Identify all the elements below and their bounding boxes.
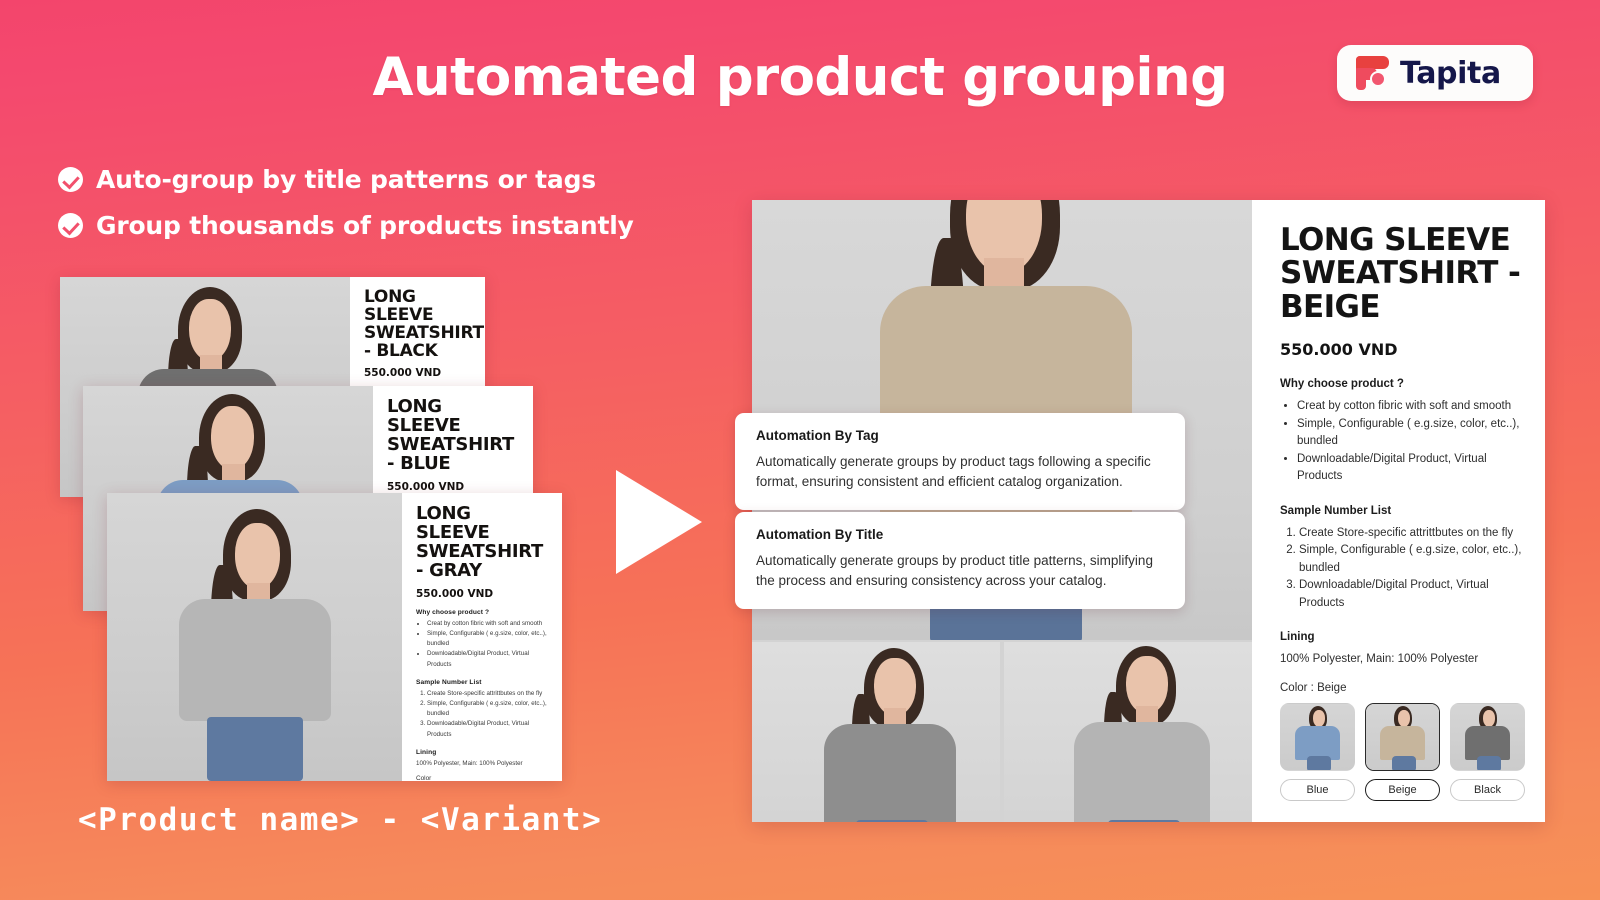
feature-bullet: Auto-group by title patterns or tags (58, 165, 634, 194)
product-gallery (752, 200, 1252, 822)
why-choose-heading: Why choose product ? (416, 609, 548, 616)
product-price: 550.000 VND (387, 481, 519, 493)
product-photo-gray (107, 493, 402, 781)
tapita-logo: Tapita (1337, 45, 1533, 101)
color-swatch-black[interactable]: Black (1450, 703, 1525, 801)
callout-body: Automatically generate groups by product… (756, 452, 1164, 493)
product-detail-panel: LONG SLEEVE SWEATSHIRT - BEIGE 550.000 V… (752, 200, 1545, 822)
product-price: 550.000 VND (364, 367, 471, 379)
feature-bullets: Auto-group by title patterns or tags Gro… (58, 165, 634, 257)
why-choose-list: Creat by cotton fibric with soft and smo… (427, 619, 548, 670)
detail-sample-number-heading: Sample Number List (1280, 505, 1525, 517)
product-title: LONG SLEEVE SWEATSHIRT - GRAY (416, 505, 548, 581)
list-item: Create Store-specific attrittbutes on th… (427, 689, 548, 699)
detail-why-choose-list: Creat by cotton fibric with soft and smo… (1297, 398, 1525, 485)
detail-lining-heading: Lining (1280, 631, 1525, 643)
list-item: Simple, Configurable ( e.g.size, color, … (1297, 416, 1525, 451)
product-price: 550.000 VND (416, 588, 548, 600)
detail-product-price: 550.000 VND (1280, 340, 1525, 359)
list-item: Downloadable/Digital Product, Virtual Pr… (427, 649, 548, 669)
callout-body: Automatically generate groups by product… (756, 551, 1164, 592)
pattern-caption: <Product name> - <Variant> (78, 802, 602, 838)
list-item: Simple, Configurable ( e.g.size, color, … (1299, 542, 1525, 577)
list-item: Downloadable/Digital Product, Virtual Pr… (427, 719, 548, 739)
color-swatch-image-black[interactable] (1450, 703, 1525, 771)
list-item: Create Store-specific attrittbutes on th… (1299, 525, 1525, 542)
sample-number-heading: Sample Number List (416, 679, 548, 686)
callout-automation-by-tag: Automation By Tag Automatically generate… (735, 413, 1185, 510)
list-item: Downloadable/Digital Product, Virtual Pr… (1297, 451, 1525, 486)
promo-banner: Automated product grouping Tapita Auto-g… (0, 0, 1600, 900)
detail-sample-number-list: Create Store-specific attrittbutes on th… (1299, 525, 1525, 612)
feature-bullet-label: Auto-group by title patterns or tags (96, 165, 596, 194)
color-label: Color (416, 775, 548, 781)
lining-text: 100% Polyester, Main: 100% Polyester (416, 760, 548, 767)
callout-heading: Automation By Tag (756, 428, 1164, 443)
product-info-gray: LONG SLEEVE SWEATSHIRT - GRAY 550.000 VN… (402, 493, 562, 781)
product-card-gray[interactable]: LONG SLEEVE SWEATSHIRT - GRAY 550.000 VN… (107, 493, 562, 781)
detail-color-label: Color : Beige (1280, 682, 1525, 694)
callout-heading: Automation By Title (756, 527, 1164, 542)
lining-heading: Lining (416, 749, 548, 756)
list-item: Simple, Configurable ( e.g.size, color, … (427, 629, 548, 649)
logo-text: Tapita (1400, 56, 1501, 91)
color-swatch-row: Blue Beige (1280, 703, 1525, 801)
color-swatch-blue[interactable]: Blue (1280, 703, 1355, 801)
callout-automation-by-title: Automation By Title Automatically genera… (735, 512, 1185, 609)
product-title: LONG SLEEVE SWEATSHIRT - BLUE (387, 398, 519, 474)
color-swatch-image-beige[interactable] (1365, 703, 1440, 771)
sample-number-list: Create Store-specific attrittbutes on th… (427, 689, 548, 740)
check-circle-icon (58, 213, 83, 238)
feature-bullet-label: Group thousands of products instantly (96, 211, 634, 240)
tapita-f-logo-icon (1356, 56, 1389, 90)
product-title: LONG SLEEVE SWEATSHIRT - BLACK (364, 289, 471, 360)
gallery-thumbnails (752, 642, 1252, 822)
list-item: Downloadable/Digital Product, Virtual Pr… (1299, 577, 1525, 612)
color-swatch-label-black[interactable]: Black (1450, 779, 1525, 801)
right-triangle-arrow-icon (616, 470, 702, 574)
check-circle-icon (58, 167, 83, 192)
feature-bullet: Group thousands of products instantly (58, 211, 634, 240)
detail-why-choose-heading: Why choose product ? (1280, 378, 1525, 390)
product-detail-info: LONG SLEEVE SWEATSHIRT - BEIGE 550.000 V… (1252, 200, 1545, 822)
color-swatch-image-blue[interactable] (1280, 703, 1355, 771)
list-item: Creat by cotton fibric with soft and smo… (427, 619, 548, 629)
gallery-thumbnail-light-gray[interactable] (1004, 642, 1252, 822)
color-swatch-beige[interactable]: Beige (1365, 703, 1440, 801)
color-swatch-label-beige[interactable]: Beige (1365, 779, 1440, 801)
color-swatch-label-blue[interactable]: Blue (1280, 779, 1355, 801)
detail-lining-text: 100% Polyester, Main: 100% Polyester (1280, 653, 1525, 665)
gallery-thumbnail-dark-gray[interactable] (752, 642, 1000, 822)
detail-product-title: LONG SLEEVE SWEATSHIRT - BEIGE (1280, 224, 1525, 324)
list-item: Creat by cotton fibric with soft and smo… (1297, 398, 1525, 415)
list-item: Simple, Configurable ( e.g.size, color, … (427, 699, 548, 719)
